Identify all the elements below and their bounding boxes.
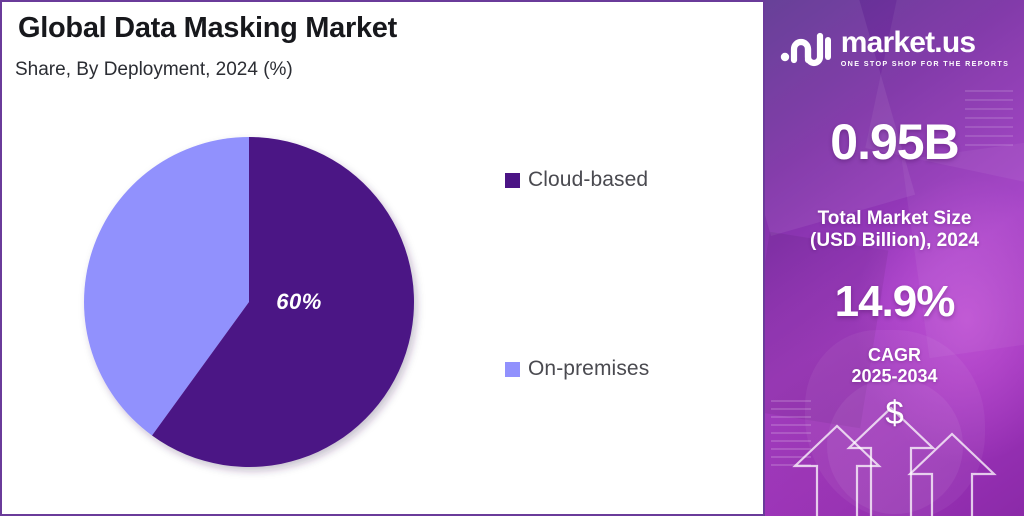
dollar-sign-icon: $ [765, 394, 1024, 432]
cagr-value: 14.9% [765, 277, 1024, 327]
cagr-caption-line2: 2025-2034 [851, 366, 937, 386]
cagr-caption-line1: CAGR [868, 345, 921, 365]
brand-tagline: ONE STOP SHOP FOR THE REPORTS [841, 59, 1010, 68]
growth-arrows-graphic: $ [765, 386, 1024, 516]
brand-logo-text: market.us ONE STOP SHOP FOR THE REPORTS [841, 28, 1010, 68]
market-us-logo-icon [780, 29, 832, 67]
brand-name: market.us [841, 28, 976, 57]
chart-panel: Global Data Masking Market Share, By Dep… [0, 0, 765, 516]
page-title: Global Data Masking Market [18, 12, 397, 45]
market-size-value: 0.95B [765, 113, 1024, 171]
up-arrow-icon [795, 426, 879, 516]
legend-label-on-premises: On-premises [528, 357, 649, 381]
legend-label-cloud-based: Cloud-based [528, 168, 648, 192]
legend-item-cloud-based[interactable]: Cloud-based [505, 168, 648, 192]
stats-panel: market.us ONE STOP SHOP FOR THE REPORTS … [765, 0, 1024, 516]
legend-swatch-on-premises [505, 362, 520, 377]
market-size-caption: Total Market Size (USD Billion), 2024 [765, 208, 1024, 253]
chart-subtitle: Share, By Deployment, 2024 (%) [15, 59, 293, 81]
legend-item-on-premises[interactable]: On-premises [505, 357, 649, 381]
pie-slice-label-cloud-based: 60% [249, 289, 349, 315]
up-arrow-icon [910, 434, 994, 516]
market-size-caption-line2: (USD Billion), 2024 [810, 230, 979, 251]
market-size-caption-line1: Total Market Size [818, 208, 972, 229]
legend-swatch-cloud-based [505, 173, 520, 188]
brand-logo[interactable]: market.us ONE STOP SHOP FOR THE REPORTS [765, 28, 1024, 68]
pie-chart: 60% [82, 110, 422, 496]
cagr-caption: CAGR 2025-2034 [765, 345, 1024, 387]
infographic-root: Global Data Masking Market Share, By Dep… [0, 0, 1024, 516]
